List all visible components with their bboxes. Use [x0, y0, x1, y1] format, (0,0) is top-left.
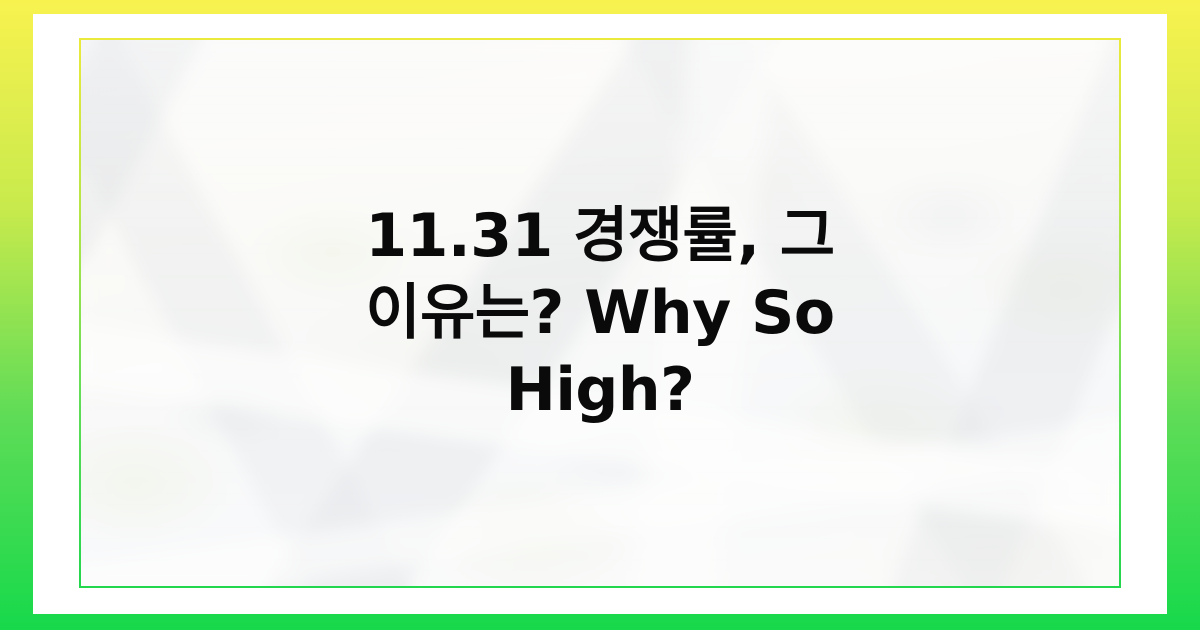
thumbnail-card: 11.31 경쟁률, 그이유는? Why SoHigh?	[0, 0, 1200, 630]
page-title-line: 11.31 경쟁률, 그	[365, 201, 834, 271]
inner-gradient-frame: 11.31 경쟁률, 그이유는? Why SoHigh?	[79, 38, 1121, 588]
page-title-line: High?	[506, 354, 695, 424]
card-white-matte: 11.31 경쟁률, 그이유는? Why SoHigh?	[33, 14, 1167, 614]
page-title-line: 이유는? Why So	[365, 278, 834, 348]
headline-block: 11.31 경쟁률, 그이유는? Why SoHigh?	[81, 198, 1119, 428]
page-title: 11.31 경쟁률, 그이유는? Why SoHigh?	[365, 198, 834, 428]
